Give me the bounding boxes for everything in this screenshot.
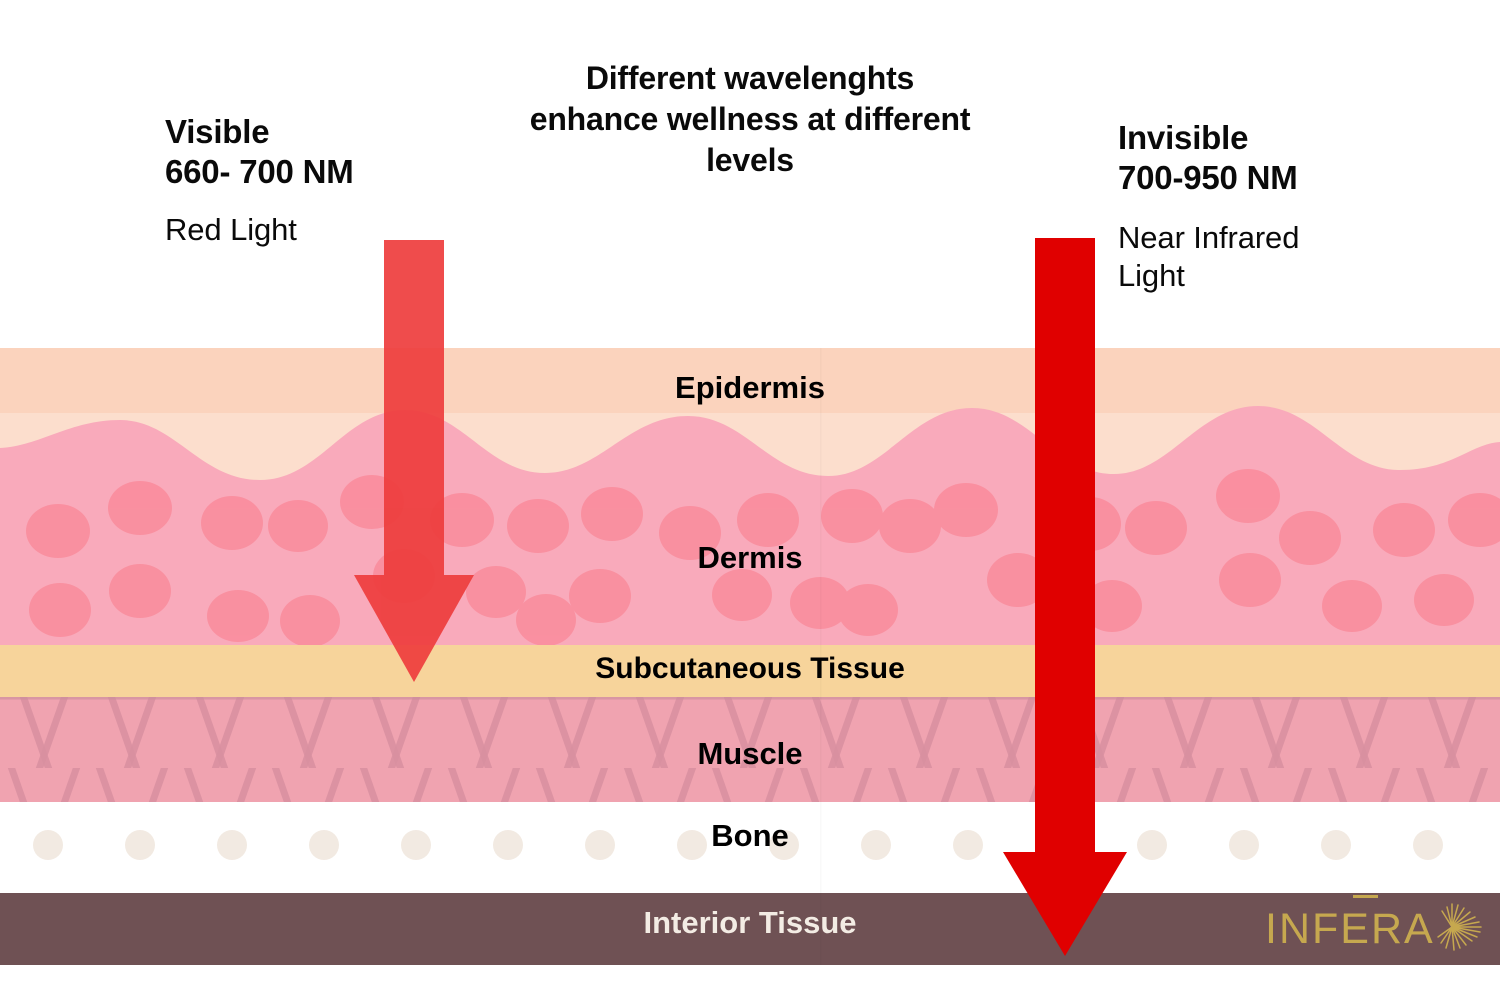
headline-title: Different wavelenghts enhance wellness a…	[470, 58, 1030, 181]
infographic-canvas: Different wavelenghts enhance wellness a…	[0, 0, 1500, 1000]
right-wavelength-subtitle: Near Infrared Light	[1118, 219, 1418, 297]
near-infrared-arrow	[1000, 238, 1130, 965]
red-light-arrow	[352, 240, 476, 695]
left-wavelength-label: Visible 660- 700 NM Red Light	[165, 112, 495, 249]
right-wavelength-title: Invisible 700-950 NM	[1118, 118, 1418, 199]
muscle-top-rule	[0, 697, 1500, 700]
sunburst-icon	[1429, 898, 1487, 961]
art-seam	[820, 348, 822, 965]
infera-wordmark: INFERA	[1265, 908, 1435, 951]
macron-accent-icon	[1353, 895, 1378, 898]
right-wavelength-label: Invisible 700-950 NM Near Infrared Light	[1118, 118, 1418, 296]
infera-logo: INFERA	[1265, 898, 1487, 961]
layer-epidermis-outer	[0, 348, 1500, 413]
layer-muscle	[0, 697, 1500, 802]
layer-bone	[0, 802, 1500, 893]
layer-subcutaneous	[0, 645, 1500, 697]
left-wavelength-title: Visible 660- 700 NM	[165, 112, 495, 193]
skin-cross-section	[0, 348, 1500, 965]
